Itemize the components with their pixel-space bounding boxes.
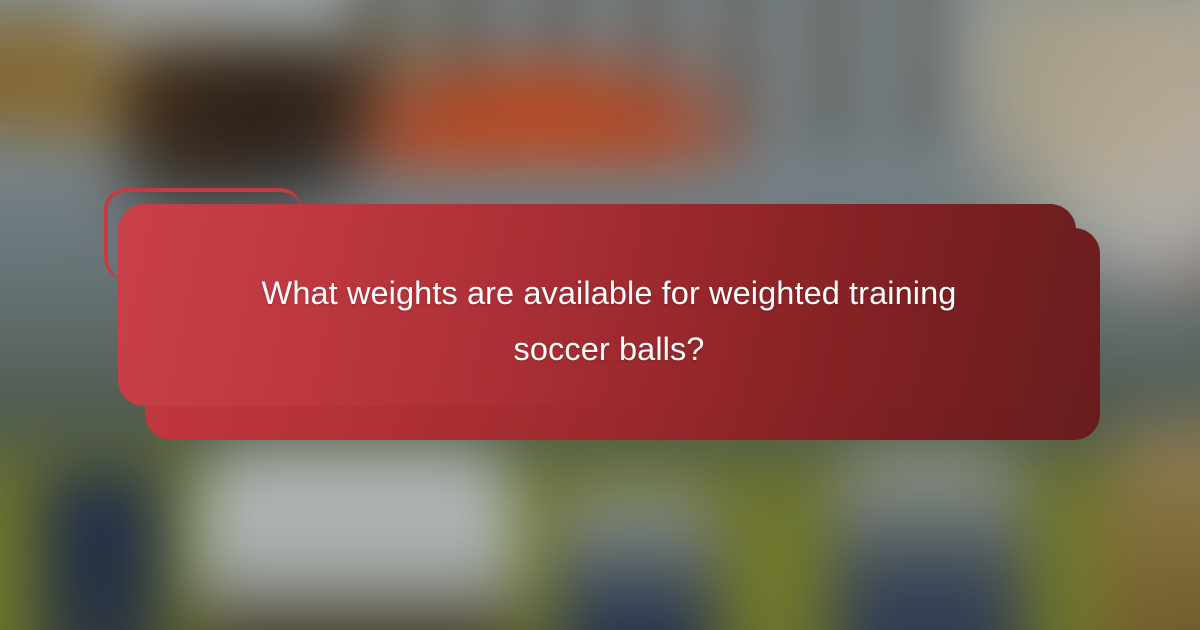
question-title: What weights are available for weighted …: [259, 266, 959, 378]
social-card-canvas: What weights are available for weighted …: [0, 0, 1200, 630]
question-card-text-area: What weights are available for weighted …: [118, 204, 1100, 440]
